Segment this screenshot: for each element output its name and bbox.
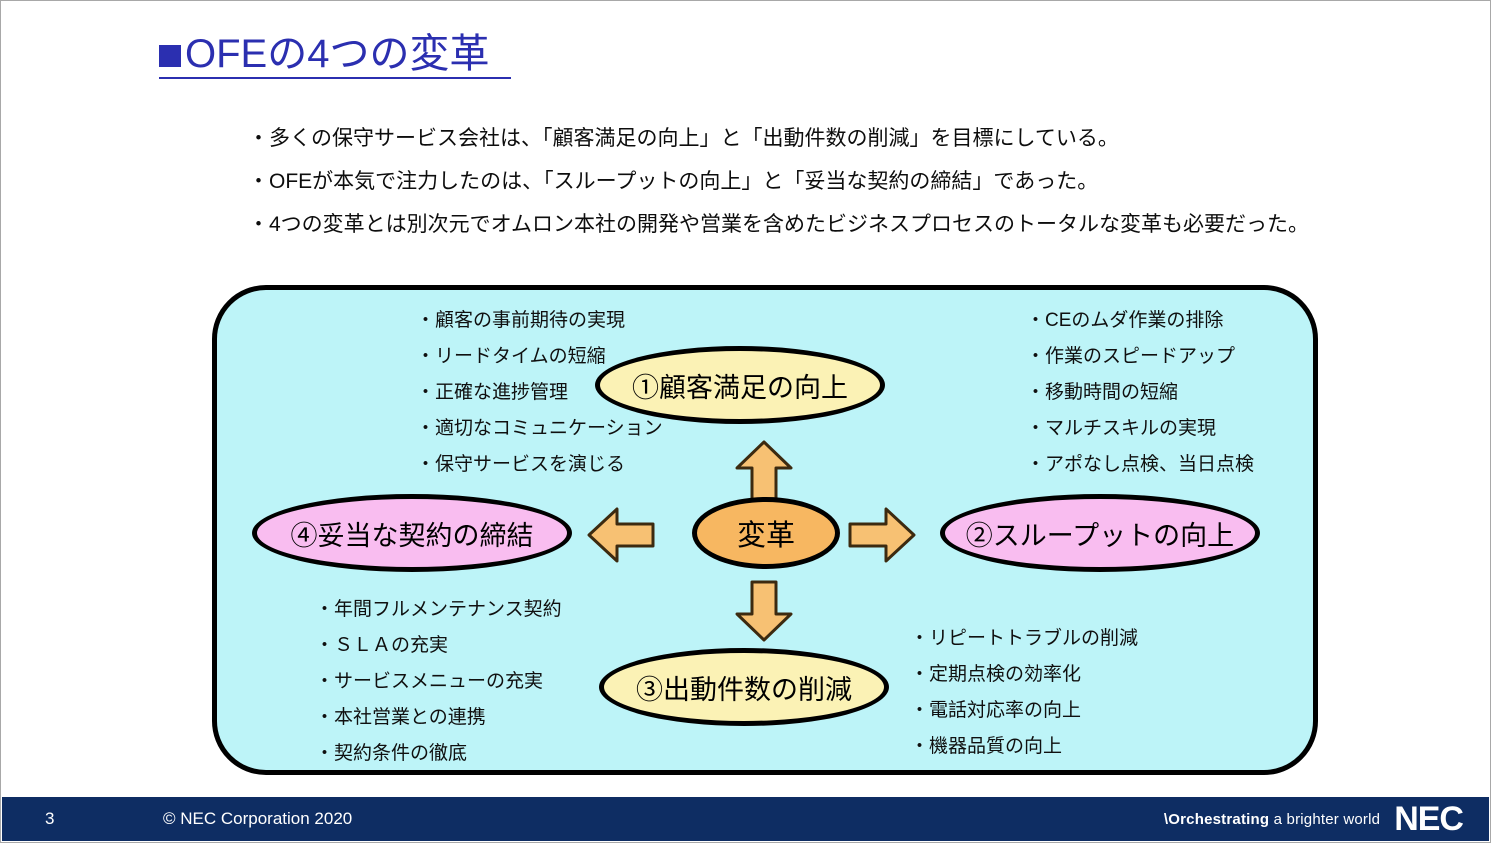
lead-bullet-list: ・多くの保守サービス会社は、「顧客満足の向上」と「出動件数の削減」を目標にしてい… (248, 127, 1448, 256)
page-number: 3 (45, 809, 85, 829)
center-node-ellipse[interactable]: 変革 (692, 497, 840, 569)
title-underline (159, 77, 511, 79)
list-item: ・機器品質の向上 (910, 737, 1138, 756)
arrow-right-icon (848, 507, 916, 563)
node-bottom-item-list: ・リピートトラブルの削減 ・定期点検の効率化 ・電話対応率の向上 ・機器品質の向… (910, 629, 1138, 773)
arrow-up-icon (735, 440, 793, 502)
list-item: ・電話対応率の向上 (910, 701, 1138, 720)
list-item: ・リピートトラブルの削減 (910, 629, 1138, 648)
nec-logo: NEC (1394, 802, 1463, 836)
node-bottom-ellipse[interactable]: ③出動件数の削減 (599, 648, 889, 726)
list-item: ・契約条件の徹底 (315, 744, 562, 763)
list-item: ・移動時間の短縮 (1026, 383, 1254, 402)
lead-bullet-1: ・多くの保守サービス会社は、「顧客満足の向上」と「出動件数の削減」を目標にしてい… (248, 127, 1448, 150)
brand-tagline: \Orchestrating a brighter world (1164, 811, 1380, 828)
list-item: ・マルチスキルの実現 (1026, 419, 1254, 438)
list-item: ・適切なコミュニケーション (416, 419, 663, 438)
arrow-left-icon (587, 507, 655, 563)
node-left-item-list: ・年間フルメンテナンス契約 ・ＳＬＡの充実 ・サービスメニューの充実 ・本社営業… (315, 600, 562, 780)
page-title: OFEの4つの変革 (159, 33, 1339, 79)
list-item: ・年間フルメンテナンス契約 (315, 600, 562, 619)
node-right-item-list: ・CEのムダ作業の排除 ・作業のスピードアップ ・移動時間の短縮 ・マルチスキル… (1026, 311, 1254, 491)
lead-bullet-2: ・OFEが本気で注力したのは、「スループットの向上」と「妥当な契約の締結」であっ… (248, 170, 1448, 193)
list-item: ・作業のスピードアップ (1026, 347, 1254, 366)
tagline-rest: a brighter world (1269, 811, 1380, 828)
list-item: ・顧客の事前期待の実現 (416, 311, 663, 330)
list-item: ・サービスメニューの充実 (315, 672, 562, 691)
arrow-down-icon (735, 580, 793, 642)
tagline-bold: Orchestrating (1168, 811, 1269, 828)
title-row: OFEの4つの変革 (159, 33, 1339, 75)
square-bullet-icon (159, 45, 181, 67)
list-item: ・保守サービスを演じる (416, 455, 663, 474)
title-text: OFEの4つの変革 (185, 33, 489, 75)
node-right-ellipse[interactable]: ②スループットの向上 (940, 494, 1260, 572)
list-item: ・CEのムダ作業の排除 (1026, 311, 1254, 330)
lead-bullet-3: ・4つの変革とは別次元でオムロン本社の開発や営業を含めたビジネスプロセスのトータ… (248, 213, 1448, 236)
transformation-diagram: ・顧客の事前期待の実現 ・リードタイムの短縮 ・正確な進捗管理 ・適切なコミュニ… (212, 285, 1318, 775)
slide-footer: 3 © NEC Corporation 2020 \Orchestrating … (2, 797, 1489, 841)
list-item: ・アポなし点検、当日点検 (1026, 455, 1254, 474)
node-left-ellipse[interactable]: ④妥当な契約の締結 (252, 494, 572, 572)
list-item: ・本社営業との連携 (315, 708, 562, 727)
node-top-ellipse[interactable]: ①顧客満足の向上 (595, 346, 885, 424)
list-item: ・ＳＬＡの充実 (315, 636, 562, 655)
copyright-text: © NEC Corporation 2020 (163, 809, 352, 829)
brand-block: \Orchestrating a brighter world NEC (1164, 802, 1463, 836)
slide: OFEの4つの変革 ・多くの保守サービス会社は、「顧客満足の向上」と「出動件数の… (0, 0, 1491, 843)
list-item: ・定期点検の効率化 (910, 665, 1138, 684)
